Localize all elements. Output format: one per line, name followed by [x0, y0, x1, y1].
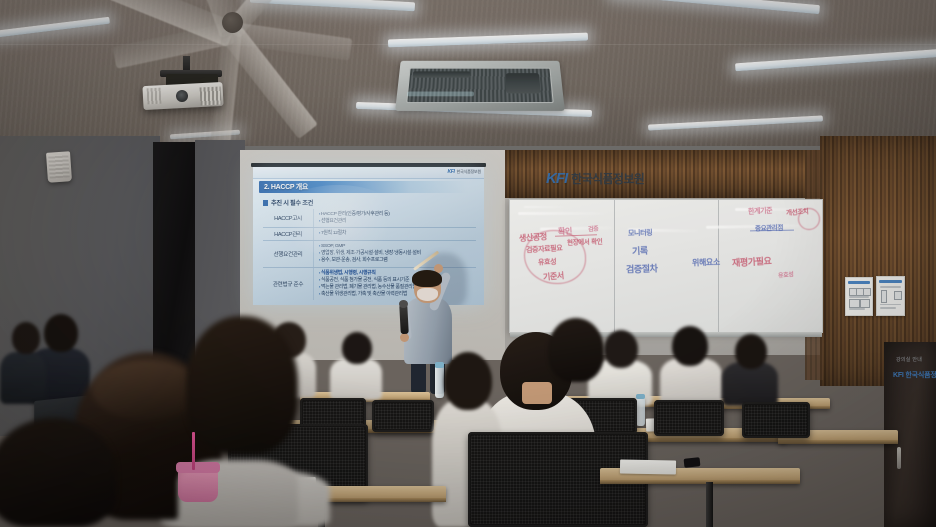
projection-screen: KFI 한국식품정보원 2. HACCP 개요 추진 시 필수 조건 HACCP… — [253, 167, 484, 305]
face-mask — [417, 288, 438, 301]
presenter-torso — [404, 298, 452, 364]
wall-alcove — [153, 142, 195, 372]
bottle-cap — [636, 394, 645, 399]
whiteboard-note: 검증 — [588, 223, 599, 233]
whiteboard-annotation-circle — [524, 230, 586, 284]
whiteboard-note: 한계기준 — [748, 205, 773, 216]
whiteboard-note: 유효성 — [778, 269, 794, 279]
drinking-straw — [192, 432, 195, 470]
door-logo: KFI 한국식품정보원 — [893, 370, 936, 380]
door-sign-text: 강의실 안내 — [896, 356, 922, 363]
chair[interactable] — [372, 400, 434, 432]
air-conditioner-unit — [395, 61, 565, 111]
handout-paper — [620, 460, 676, 475]
mobile-phone[interactable] — [684, 457, 701, 468]
whiteboard-note: 모니터링 — [628, 228, 653, 239]
microphone — [399, 304, 409, 334]
presenter-hair — [412, 270, 442, 287]
wall-speaker — [46, 151, 72, 183]
desk-leg — [706, 482, 713, 527]
wall-poster — [876, 276, 905, 316]
classroom-photo: KFI 한국식품정보원 강의실 안내 KFI 한국식품정보원 KFI — [0, 0, 936, 527]
water-bottle — [435, 366, 444, 398]
cup-lid — [176, 462, 220, 473]
whiteboard-note: 위해요소 — [692, 257, 720, 269]
door-handle[interactable] — [897, 447, 901, 469]
venue-logo-text: 한국식품정보원 — [571, 170, 644, 187]
attendee-neck — [522, 382, 552, 404]
venue-logo-kfi: KFI — [546, 170, 567, 187]
chair[interactable] — [654, 400, 724, 436]
whiteboard-note: 재평가필요 — [732, 254, 772, 269]
drink-cup — [178, 468, 218, 502]
whiteboard-note: 검증절차 — [626, 261, 658, 275]
wall-poster — [845, 277, 873, 316]
whiteboard-annotation-circle — [798, 208, 820, 230]
venue-logo: KFI 한국식품정보원 — [546, 170, 644, 187]
chair[interactable] — [742, 402, 810, 438]
bottle-cap — [435, 362, 444, 368]
water-bottle — [636, 398, 645, 426]
whiteboard-note: 기록 — [632, 244, 648, 258]
whiteboard: 생산공정 확인 검증 현장에서 확인 검증자료필요 유효성 기준서 모니터링 기… — [509, 199, 823, 333]
